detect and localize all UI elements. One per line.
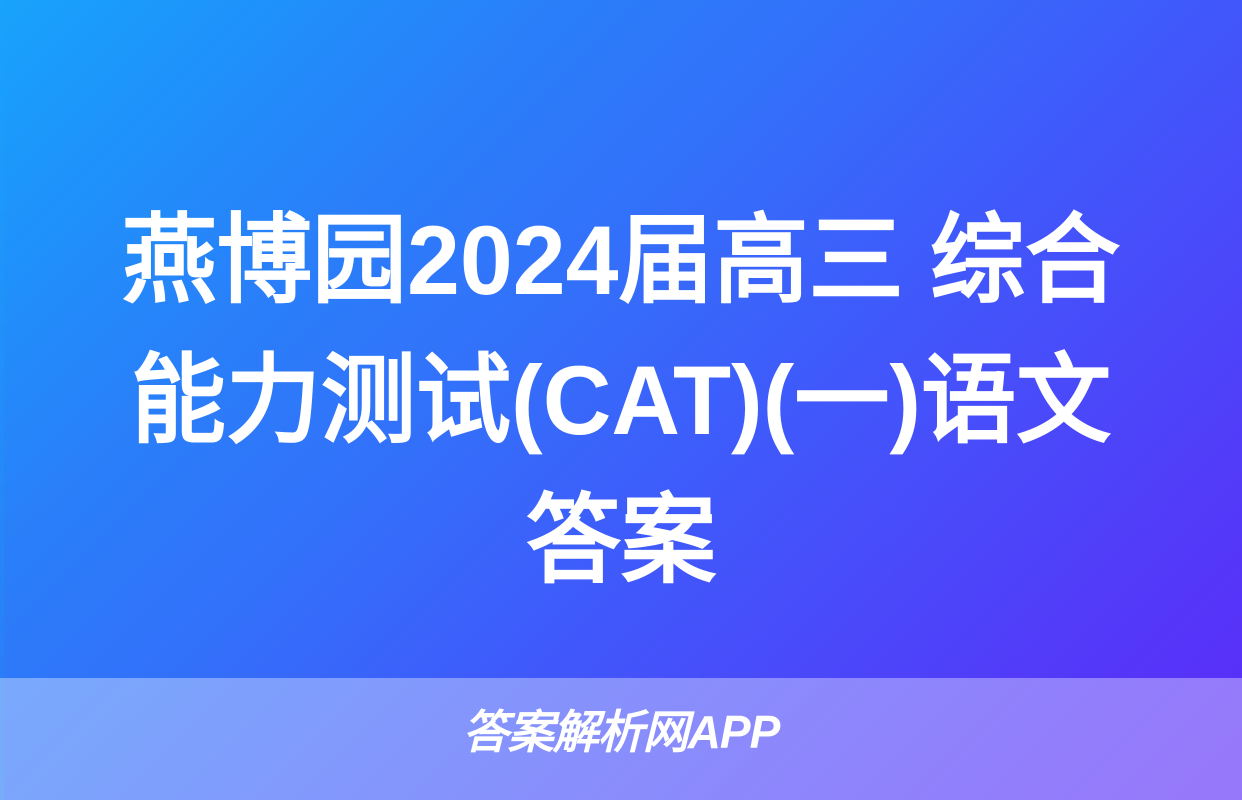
watermark-label: 答案解析网APP bbox=[0, 704, 1242, 760]
title-line-2: 能力测试(CAT)(一)语文 bbox=[19, 330, 1224, 470]
poster-canvas: 燕博园2024届高三 综合 能力测试(CAT)(一)语文 答案 答案解析网APP bbox=[0, 0, 1242, 800]
title-line-3: 答案 bbox=[19, 470, 1224, 610]
title-line-1: 燕博园2024届高三 综合 bbox=[19, 190, 1224, 330]
poster-title: 燕博园2024届高三 综合 能力测试(CAT)(一)语文 答案 bbox=[0, 190, 1242, 610]
